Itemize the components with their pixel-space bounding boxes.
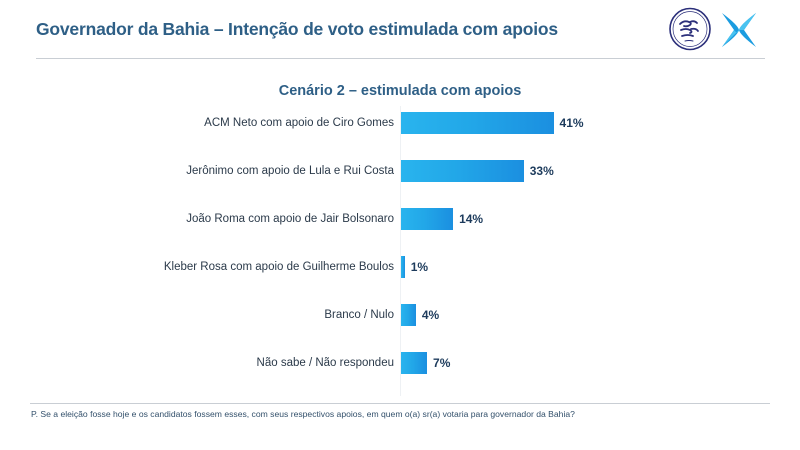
chart-container: Cenário 2 – estimulada com apoios ACM Ne… xyxy=(0,60,800,400)
bar xyxy=(401,352,427,374)
bar-chart-plot: ACM Neto com apoio de Ciro Gomes41%Jerôn… xyxy=(0,106,800,396)
bar-row: Kleber Rosa com apoio de Guilherme Boulo… xyxy=(0,254,800,280)
footer-divider xyxy=(30,403,770,404)
bar-value-label: 4% xyxy=(422,302,439,328)
brand-logos xyxy=(668,7,768,53)
bar-row: Não sabe / Não respondeu7% xyxy=(0,350,800,376)
bar-value-label: 14% xyxy=(459,206,483,232)
bar xyxy=(401,256,405,278)
bar-row: Jerônimo com apoio de Lula e Rui Costa33… xyxy=(0,158,800,184)
bar-value-label: 33% xyxy=(530,158,554,184)
bar-category-label: João Roma com apoio de Jair Bolsonaro xyxy=(186,206,394,232)
bar xyxy=(401,208,453,230)
bar-category-label: ACM Neto com apoio de Ciro Gomes xyxy=(204,110,394,136)
bar-category-label: Jerônimo com apoio de Lula e Rui Costa xyxy=(186,158,394,184)
bar-category-label: Não sabe / Não respondeu xyxy=(257,350,394,376)
bar xyxy=(401,160,524,182)
bar-value-label: 41% xyxy=(560,110,584,136)
bar-value-label: 1% xyxy=(411,254,428,280)
bar-row: João Roma com apoio de Jair Bolsonaro14% xyxy=(0,206,800,232)
bar-row: Branco / Nulo4% xyxy=(0,302,800,328)
bar-category-label: Branco / Nulo xyxy=(324,302,394,328)
bar-category-label: Kleber Rosa com apoio de Guilherme Boulo… xyxy=(164,254,394,280)
salvador-stamp-logo xyxy=(668,7,712,51)
x-mark-logo xyxy=(718,9,760,51)
bar-row: ACM Neto com apoio de Ciro Gomes41% xyxy=(0,110,800,136)
page-title: Governador da Bahia – Intenção de voto e… xyxy=(36,19,558,40)
page-header: Governador da Bahia – Intenção de voto e… xyxy=(0,0,800,60)
question-footnote: P. Se a eleição fosse hoje e os candidat… xyxy=(31,409,575,419)
bar-value-label: 7% xyxy=(433,350,450,376)
bar xyxy=(401,304,416,326)
bar xyxy=(401,112,554,134)
header-divider xyxy=(36,58,765,59)
chart-title: Cenário 2 – estimulada com apoios xyxy=(0,83,800,99)
